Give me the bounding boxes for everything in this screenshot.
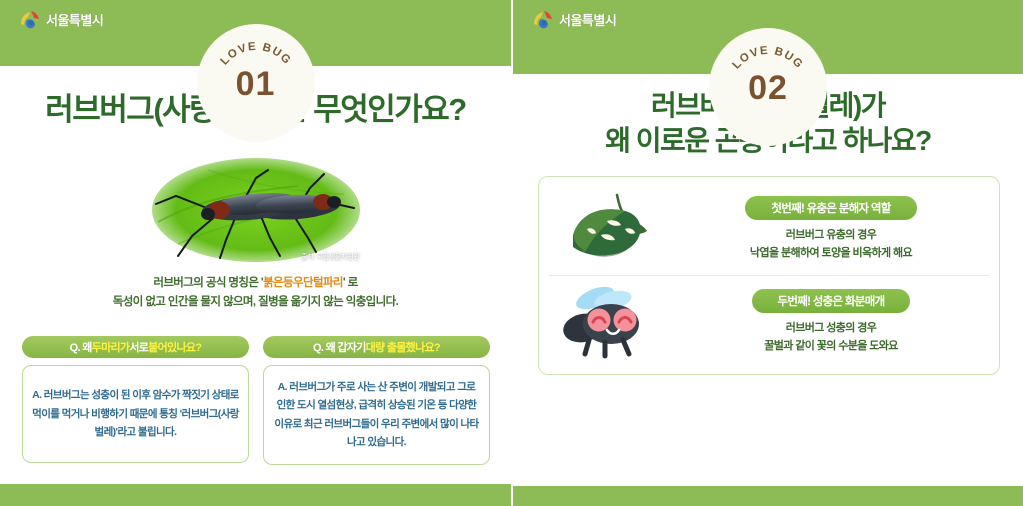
footer-band-left <box>0 484 511 506</box>
lead-line1-highlight: 붉은등우단털파리 <box>263 277 343 289</box>
seoul-logo-text-right: 서울특별시 <box>559 10 616 29</box>
seoul-logo-mark-icon-right <box>531 8 555 30</box>
seoul-logo-mark-icon <box>18 8 42 30</box>
qa2-head-a: Q. 왜 갑자기 <box>313 339 366 355</box>
badge-02: LOVE BUG 02 <box>709 28 827 146</box>
lovebug-photo: 출처: 국립생물자원관 <box>148 152 364 264</box>
leaf-icon <box>549 191 667 267</box>
benefit-1-line1: 러브버그 유충의 경우 <box>673 227 989 245</box>
benefit-2-line2: 꿀벌과 같이 꽃의 수분을 도와요 <box>673 338 989 356</box>
qa1-head-a: Q. 왜 <box>70 339 92 355</box>
seoul-logo-text: 서울특별시 <box>46 10 103 29</box>
qa-question-2: Q. 왜 갑자기 대량 출몰했나요? <box>263 336 490 358</box>
footer-band-right <box>513 486 1023 506</box>
qa1-head-hl1: 두마리가 <box>92 339 130 355</box>
benefit-lines-2: 러브버그 성충의 경우 꿀벌과 같이 꽃의 수분을 도와요 <box>673 320 989 355</box>
seoul-logo: 서울특별시 <box>18 8 103 30</box>
panel-01: 서울특별시 LOVE BUG 01 러브버그(사랑벌레)란 무엇인가요? <box>0 0 511 506</box>
badge-arc-text: LOVE BUG <box>218 41 293 68</box>
badge-number: 01 <box>197 65 315 104</box>
qa2-head-hl1: 대량 출몰했나요? <box>366 339 440 355</box>
lovebug-character-icon <box>549 284 667 360</box>
badge-number-right: 02 <box>709 69 827 108</box>
svg-text:LOVE BUG: LOVE BUG <box>218 41 293 68</box>
svg-text:LOVE BUG: LOVE BUG <box>730 45 805 72</box>
benefit-1-line2: 낙엽을 분해하여 토양을 비옥하게 해요 <box>673 245 989 263</box>
infographic-stage: 서울특별시 LOVE BUG 01 러브버그(사랑벌레)란 무엇인가요? <box>0 0 1023 506</box>
photo-source-caption: 출처: 국립생물자원관 <box>301 252 360 262</box>
benefit-row-1: 첫번째! 유충은 분해자 역할 러브버그 유충의 경우 낙엽을 분해하여 토양을… <box>549 183 989 275</box>
lead-line1-b: ' 로 <box>343 277 358 289</box>
lead-line2: 독성이 없고 인간을 물지 않으며, 질병을 옮기지 않는 익충입니다. <box>0 293 511 312</box>
benefit-title-1: 첫번째! 유충은 분해자 역할 <box>745 196 916 220</box>
panel-02: 서울특별시 LOVE BUG 02 러브버그(사랑벌레)가 왜 이로운 곤충이라… <box>511 0 1023 506</box>
badge-01: LOVE BUG 01 <box>197 24 315 142</box>
benefit-title-2: 두번째! 성충은 화분매개 <box>752 289 911 313</box>
qa1-head-b: 서로 <box>129 339 148 355</box>
benefit-text-1: 첫번째! 유충은 분해자 역할 러브버그 유충의 경우 낙엽을 분해하여 토양을… <box>673 196 989 262</box>
qa-card-2: Q. 왜 갑자기 대량 출몰했나요? A. 러브버그가 주로 사는 산 주변이 … <box>263 336 490 465</box>
benefits-card: 첫번째! 유충은 분해자 역할 러브버그 유충의 경우 낙엽을 분해하여 토양을… <box>538 176 1000 375</box>
qa-answer-1: A. 러브버그는 성충이 된 이후 암수가 짝짓기 상태로 먹이를 먹거나 비행… <box>22 365 249 463</box>
benefit-lines-1: 러브버그 유충의 경우 낙엽을 분해하여 토양을 비옥하게 해요 <box>673 227 989 262</box>
qa-row: Q. 왜 두마리가 서로 붙어있나요? A. 러브버그는 성충이 된 이후 암수… <box>22 336 490 465</box>
qa1-head-hl2: 붙어있나요? <box>148 339 201 355</box>
benefit-2-line1: 러브버그 성충의 경우 <box>673 320 989 338</box>
badge-arc-text-right: LOVE BUG <box>730 45 805 72</box>
qa-card-1: Q. 왜 두마리가 서로 붙어있나요? A. 러브버그는 성충이 된 이후 암수… <box>22 336 249 465</box>
qa-answer-2: A. 러브버그가 주로 사는 산 주변이 개발되고 그로 인한 도시 열섬현상,… <box>263 365 490 465</box>
benefit-text-2: 두번째! 성충은 화분매개 러브버그 성충의 경우 꿀벌과 같이 꽃의 수분을 … <box>673 289 989 355</box>
lead-line1-a: 러브버그의 공식 명칭은 ' <box>153 277 263 289</box>
qa-question-1: Q. 왜 두마리가 서로 붙어있나요? <box>22 336 249 358</box>
lead-text: 러브버그의 공식 명칭은 '붉은등우단털파리' 로 독성이 없고 인간을 물지 … <box>0 274 511 312</box>
seoul-logo-right: 서울특별시 <box>531 8 616 30</box>
benefit-row-2: 두번째! 성충은 화분매개 러브버그 성충의 경우 꿀벌과 같이 꽃의 수분을 … <box>549 275 989 368</box>
